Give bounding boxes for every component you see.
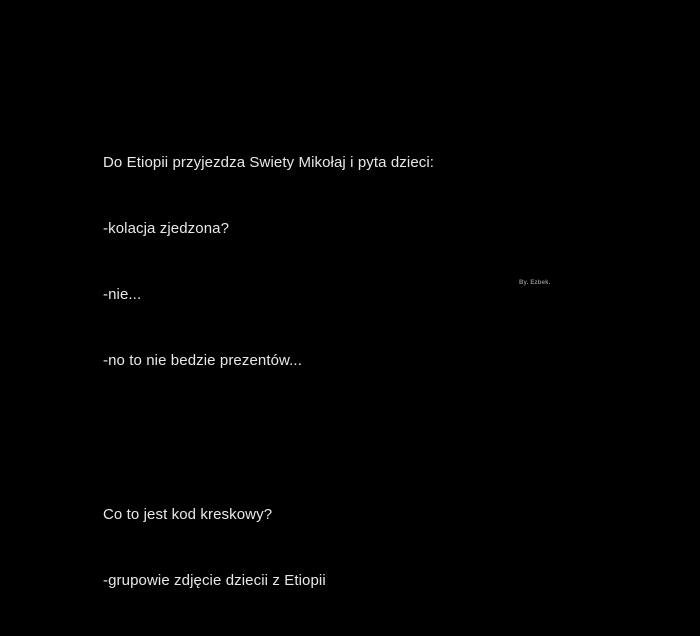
image-canvas: Do Etiopii przyjezdza Swiety Mikołaj i p… <box>0 0 700 409</box>
joke-line: Do Etiopii przyjezdza Swiety Mikołaj i p… <box>103 152 663 174</box>
joke-line: Co to jest kod kreskowy? <box>103 504 663 526</box>
joke-line: -kolacja zjedzona? <box>103 218 663 240</box>
joke-text-layer: Do Etiopii przyjezdza Swiety Mikołaj i p… <box>103 108 663 636</box>
joke-block-second: Co to jest kod kreskowy? -grupowie zdjęc… <box>103 460 663 636</box>
joke-line: -no to nie bedzie prezentów... <box>103 350 663 372</box>
joke-block-first: Do Etiopii przyjezdza Swiety Mikołaj i p… <box>103 108 663 416</box>
block-spacer <box>103 416 663 460</box>
joke-line: -grupowie zdjęcie dziecii z Etiopii <box>103 570 663 592</box>
joke-line: -nie... <box>103 284 663 306</box>
author-signature: By. Ezbek. <box>519 279 551 288</box>
